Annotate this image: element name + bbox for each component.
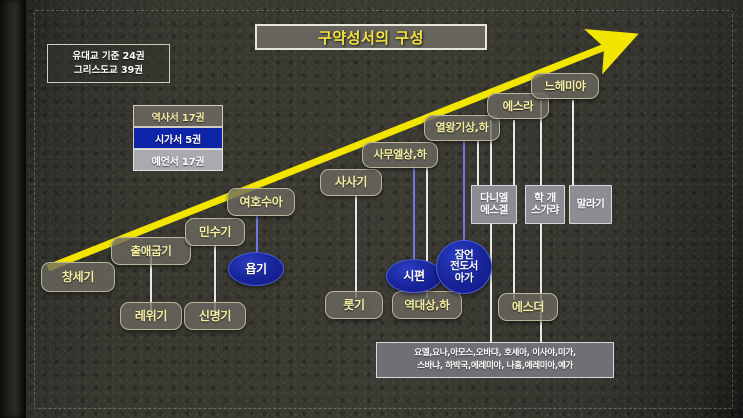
book-count-info-box: 유대교 기준 24권 그리스도교 39권 (47, 44, 170, 83)
node-nehemiah[interactable]: 느헤미야 (531, 73, 599, 99)
connector-kings-wisdom (463, 140, 465, 250)
node-daniel-line1: 다니엘 (480, 193, 508, 205)
node-leviticus[interactable]: 레위기 (120, 302, 182, 330)
node-wisdom-line3: 아가 (455, 273, 474, 284)
node-psalms[interactable]: 시편 (386, 259, 442, 293)
connector-daniel-minor (490, 224, 492, 342)
page-title: 구약성서의 구성 (255, 24, 487, 50)
node-daniel-line2: 에스겔 (480, 205, 508, 217)
node-haggai-line2: 스가랴 (531, 205, 559, 217)
connector-haggai-minor (540, 224, 542, 342)
node-samuel[interactable]: 사무엘상,하 (362, 142, 438, 168)
legend-item-history: 역사서 17권 (133, 105, 223, 127)
legend-item-prophecy: 예언서 17권 (133, 149, 223, 171)
node-haggai-line1: 학 개 (534, 193, 556, 205)
node-kings[interactable]: 열왕기상,하 (424, 115, 500, 141)
connector-nehemiah-malachi (572, 100, 574, 186)
minor-prophets-line2: 스바냐, 하박국,에레미야, 나훔,예레미아,예가 (417, 360, 573, 373)
info-line-christianity: 그리스도교 39권 (74, 64, 143, 78)
legend: 역사서 17권 시가서 5권 예언서 17권 (133, 105, 223, 171)
connector-kings-daniel (477, 140, 479, 185)
minor-prophets-line1: 요엘,요나,아모스,오바댜, 호세아, 이사야,미가, (414, 347, 576, 360)
connector-judges-ruth (355, 196, 357, 298)
node-judges[interactable]: 사사기 (320, 169, 382, 196)
node-haggai-zechariah[interactable]: 학 개 스가랴 (525, 185, 565, 224)
node-wisdom[interactable]: 잠언 전도서 아가 (436, 240, 492, 294)
node-genesis[interactable]: 창세기 (41, 262, 115, 292)
node-joshua[interactable]: 여호수아 (227, 188, 295, 216)
node-numbers[interactable]: 민수기 (185, 218, 245, 246)
node-exodus[interactable]: 출애굽기 (111, 237, 191, 265)
node-chronicles[interactable]: 역대상,하 (392, 291, 462, 319)
node-ruth[interactable]: 룻기 (325, 291, 383, 319)
info-line-judaism: 유대교 기준 24권 (72, 50, 144, 64)
connector-numbers-deuteronomy (214, 245, 216, 310)
node-daniel-ezekiel[interactable]: 다니엘 에스겔 (471, 185, 517, 224)
node-job[interactable]: 욥기 (228, 252, 284, 286)
legend-item-poetry: 시가서 5권 (133, 127, 223, 149)
node-malachi-line1: 말라기 (577, 199, 605, 211)
node-deuteronomy[interactable]: 신명기 (184, 302, 246, 330)
connector-samuel-psalms (413, 167, 415, 262)
slide-canvas: 구약성서의 구성 유대교 기준 24권 그리스도교 39권 역사서 17권 시가… (0, 0, 743, 418)
node-esther[interactable]: 에스더 (498, 293, 558, 321)
node-malachi[interactable]: 말라기 (569, 185, 612, 224)
minor-prophets-box[interactable]: 요엘,요나,아모스,오바댜, 호세아, 이사야,미가, 스바냐, 하박국,에레미… (376, 342, 614, 378)
node-wisdom-line2: 전도서 (450, 261, 478, 272)
